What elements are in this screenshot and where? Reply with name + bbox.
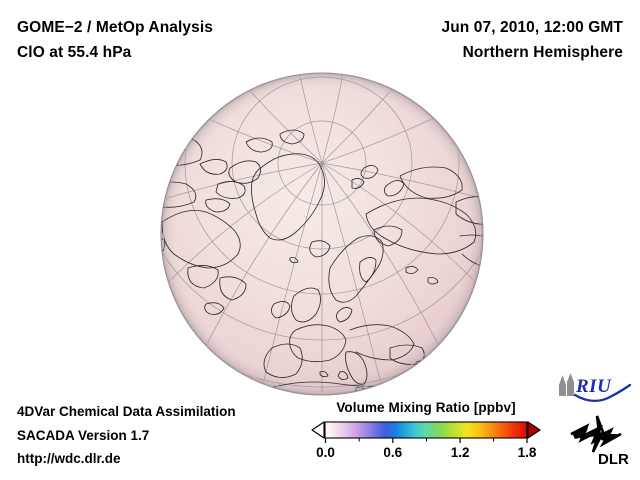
dlr-wordmark: DLR: [598, 451, 629, 468]
colorbar-gradient-bar: [325, 422, 527, 438]
timestamp-label: Jun 07, 2010, 12:00 GMT: [442, 15, 624, 40]
plot-canvas: GOME−2 / MetOp Analysis ClO at 55.4 hPa …: [0, 0, 640, 480]
riu-wordmark: RIU: [575, 376, 612, 397]
hemisphere-label: Northern Hemisphere: [442, 40, 624, 65]
footer-line-method: 4DVar Chemical Data Assimilation: [17, 400, 236, 424]
colorbar-low-arrow-cap: [312, 422, 324, 438]
dlr-logo-svg: DLR: [563, 412, 635, 468]
footer-line-url: http://wdc.dlr.de: [17, 447, 236, 471]
header-left-block: GOME−2 / MetOp Analysis ClO at 55.4 hPa: [17, 15, 213, 65]
colorbar-title: Volume Mixing Ratio [ppbv]: [310, 400, 542, 415]
riu-logo: RIU: [556, 372, 634, 406]
globe-map: [160, 72, 484, 396]
colorbar-tick-label-0: 0.0: [316, 445, 335, 460]
header-right-block: Jun 07, 2010, 12:00 GMT Northern Hemisph…: [442, 15, 624, 65]
colorbar-svg: [310, 420, 542, 444]
riu-logo-svg: RIU: [556, 372, 634, 406]
footer-credits: 4DVar Chemical Data Assimilation SACADA …: [17, 400, 236, 471]
colorbar: Volume Mixing Ratio [ppbv]: [310, 400, 542, 465]
globe-svg: [160, 72, 484, 396]
colorbar-tick-label-1: 0.6: [383, 445, 402, 460]
colorbar-tick-label-2: 1.2: [451, 445, 470, 460]
colorbar-tick-labels: 0.0 0.6 1.2 1.8: [310, 445, 542, 465]
colorbar-tick-label-3: 1.8: [518, 445, 537, 460]
dlr-mark-fill: [573, 417, 618, 451]
riu-spires-icon: [559, 373, 574, 396]
colorbar-high-arrow-cap: [528, 422, 540, 438]
dlr-logo: DLR: [563, 412, 635, 468]
footer-line-version: SACADA Version 1.7: [17, 424, 236, 448]
page-title: GOME−2 / MetOp Analysis: [17, 15, 213, 40]
page-subtitle: ClO at 55.4 hPa: [17, 40, 213, 65]
